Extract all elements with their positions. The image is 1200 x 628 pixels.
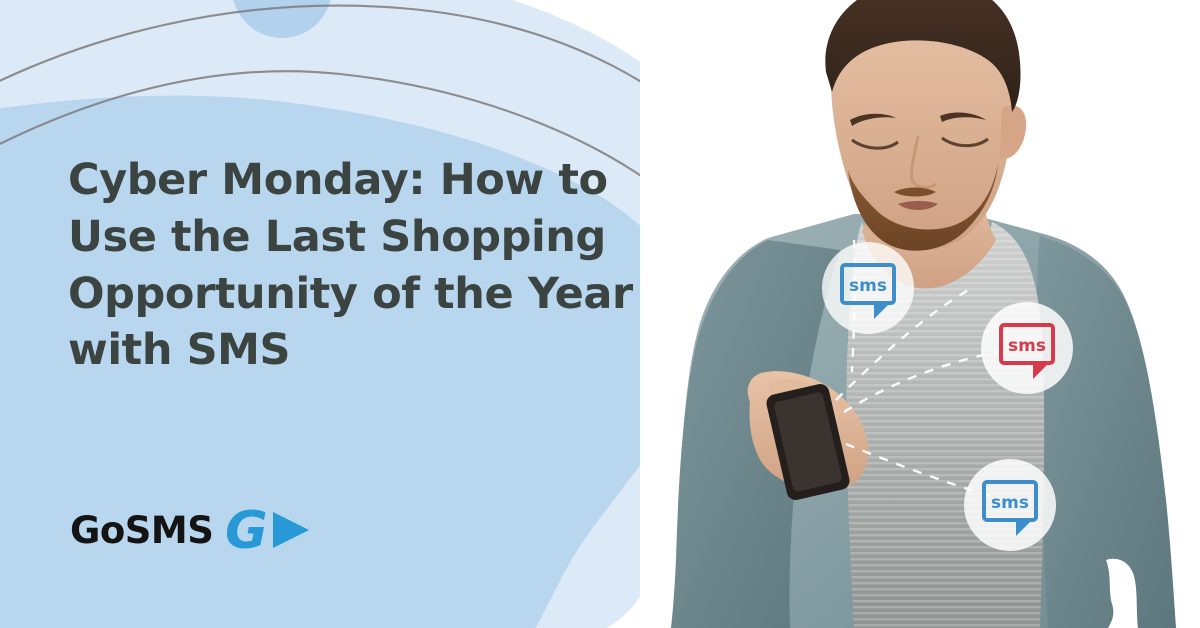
brand-logo[interactable]: GoSMS G	[70, 504, 311, 556]
svg-text:sms: sms	[991, 493, 1029, 513]
logo-mark-icon: G	[227, 504, 311, 556]
svg-text:G: G	[227, 504, 268, 556]
svg-text:sms: sms	[1008, 336, 1046, 356]
page-title: Cyber Monday: How to Use the Last Shoppi…	[68, 152, 658, 379]
hero-photo: sms sms	[640, 0, 1200, 628]
sms-badge-2: sms	[981, 302, 1073, 394]
svg-text:sms: sms	[849, 276, 887, 296]
logo-wordmark: GoSMS	[70, 512, 213, 549]
hero-photo-svg: sms sms	[640, 0, 1200, 628]
sms-badge-3: sms	[964, 459, 1056, 551]
banner-root: sms sms	[0, 0, 1200, 628]
sms-badge-1: sms	[822, 242, 914, 334]
content-column: Cyber Monday: How to Use the Last Shoppi…	[0, 0, 700, 628]
